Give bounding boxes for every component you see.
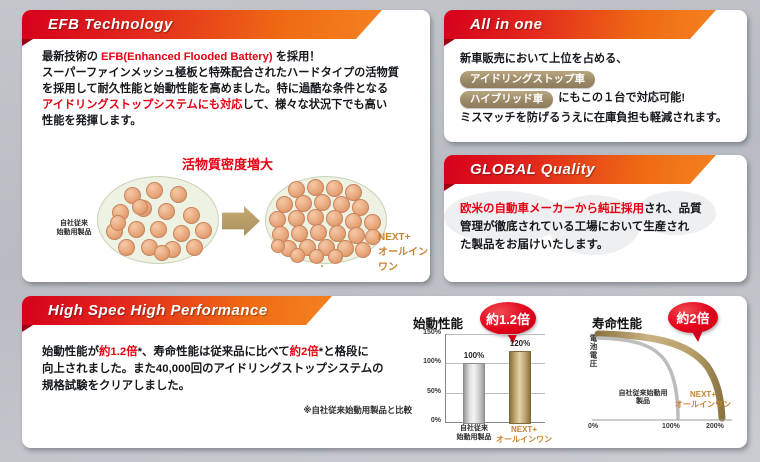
density-diagram: 活物質密度増大 自社従来 始動用製品 (22, 140, 430, 282)
banner-fold-high-spec (22, 325, 33, 332)
xtick-200: 200% (706, 423, 724, 430)
right-arrow-icon (222, 206, 260, 236)
text-seg: 最新技術の (42, 51, 101, 63)
chart-starting-performance: 始動性能 約1.2倍 150% 100% 50% 0% 100% 120% 自社… (407, 304, 577, 446)
banner-global-quality: GLOBAL Quality (444, 155, 716, 184)
panel-high-spec: High Spec High Performance 始動性能が約1.2倍*、寿… (22, 296, 747, 448)
curve-label-conventional: 自社従来始動用製品 (616, 390, 670, 407)
high-spec-footnote: ※自社従来始動用製品と比較 (262, 404, 412, 416)
hs-line-3: 規格試験をクリアしました。 (42, 378, 412, 395)
efb-description: 最新技術の EFB(Enhanced Flooded Battery) を採用！… (42, 50, 420, 130)
aio-line-2-suffix: にもこの１台で対応可能! (558, 91, 685, 107)
text-seg-highlight: アイドリングストップシステムにも対応 (42, 99, 242, 111)
banner-title: EFB Technology (22, 16, 173, 33)
density-right-label-jp: オールインワン (378, 243, 430, 273)
xtick-0: 0% (588, 423, 598, 430)
curve-label-next-plus-en: NEXT+ (674, 390, 732, 400)
high-spec-description: 始動性能が約1.2倍*、寿命性能は従来品に比べて約2倍*と格段に 向上されました… (42, 344, 412, 395)
efb-line-5: 性能を発揮します。 (42, 114, 420, 130)
density-right-label-en: NEXT+ (378, 232, 430, 243)
panel-global-quality: GLOBAL Quality 欧米の自動車メーカーから純正採用され、品質 管理が… (444, 155, 747, 282)
curve-label-next-plus: NEXT+ オールインワン (674, 390, 732, 410)
text-seg: して、様々な状況下でも高い (242, 99, 387, 111)
density-diagram-heading: 活物質密度増大 (182, 154, 273, 173)
efb-line-4: アイドリングストップシステムにも対応して、様々な状況下でも高い (42, 98, 420, 114)
aio-tag-row-2: ハイブリッド車 にもこの１台で対応可能! (460, 91, 740, 108)
bar-conventional (463, 363, 485, 424)
plot-area-starting: 150% 100% 50% 0% 100% 120% 自社従来 始動用製品 NE… (407, 304, 577, 446)
efb-line-2: スーパーファインメッシュ極板と特殊配合されたハードタイプの活物質 (42, 66, 420, 82)
aio-line-3: ミスマッチを防げるうえに在庫負担も軽減されます。 (460, 111, 740, 127)
gridline-150 (445, 334, 545, 335)
gq-line-3: た製品をお届けいたします。 (460, 237, 742, 255)
text-seg-highlight: 欧米の自動車メーカーから純正採用 (460, 203, 644, 215)
curve-label-next-plus-jp: オールインワン (674, 400, 732, 410)
ytick-50: 50% (411, 388, 441, 395)
banner-title: All in one (444, 16, 543, 33)
tag-hybrid-vehicle: ハイブリッド車 (460, 91, 553, 108)
text-seg: され、品質 (644, 203, 702, 215)
y-axis-starting (445, 334, 446, 423)
aio-line-1: 新車販売において上位を占める、 (460, 52, 740, 68)
banner-fold-efb (22, 39, 33, 46)
text-seg: 始動性能が (42, 346, 99, 358)
banner-efb-technology: EFB Technology (22, 10, 382, 39)
particle-group-next-plus (265, 176, 387, 264)
chart-life-performance: 寿命性能 約2倍 電池電圧 0% 100% 200% 自社従来始動 (582, 304, 747, 446)
banner-high-spec: High Spec High Performance (22, 296, 332, 325)
ytick-100: 100% (411, 358, 441, 365)
gq-line-2: 管理が徹底されている工場において生産され (460, 219, 742, 237)
density-left-label: 自社従来 始動用製品 (46, 220, 102, 237)
ytick-0: 0% (411, 417, 441, 424)
xtick-100: 100% (662, 423, 680, 430)
bar-value-conventional: 100% (453, 351, 495, 360)
efb-line-1: 最新技術の EFB(Enhanced Flooded Battery) を採用！ (42, 50, 420, 66)
text-seg: を採用！ (273, 51, 321, 63)
banner-title: GLOBAL Quality (444, 161, 595, 178)
gq-line-1: 欧米の自動車メーカーから純正採用され、品質 (460, 201, 742, 219)
banner-fold-all-in-one (444, 39, 455, 46)
bar-next-plus (509, 351, 531, 424)
banner-all-in-one: All in one (444, 10, 716, 39)
ytick-150: 150% (411, 329, 441, 336)
text-seg-highlight: 約1.2倍 (99, 346, 138, 358)
hs-line-2: 向上されました。また40,000回のアイドリングストップシステムの (42, 361, 412, 378)
panel-all-in-one: All in one 新車販売において上位を占める、 アイドリングストップ車 ハ… (444, 10, 747, 142)
banner-title: High Spec High Performance (22, 302, 268, 319)
bar-label-conventional: 自社従来 始動用製品 (447, 425, 501, 442)
hs-line-1: 始動性能が約1.2倍*、寿命性能は従来品に比べて約2倍*と格段に (42, 344, 412, 361)
text-seg: *、寿命性能は従来品に比べて (138, 346, 290, 358)
text-seg: *と格段に (319, 346, 369, 358)
tag-idling-stop-vehicle: アイドリングストップ車 (460, 71, 595, 88)
bar-label-next-plus: NEXT+ オールインワン (495, 425, 553, 445)
text-seg-highlight: EFB(Enhanced Flooded Battery) (101, 51, 273, 63)
all-in-one-description: 新車販売において上位を占める、 アイドリングストップ車 ハイブリッド車 にもこの… (460, 52, 740, 127)
bar-value-next-plus: 120% (499, 339, 541, 348)
panel-efb-technology: EFB Technology 最新技術の EFB(Enhanced Floode… (22, 10, 430, 282)
global-quality-description: 欧米の自動車メーカーから純正採用され、品質 管理が徹底されている工場において生産… (460, 201, 742, 254)
efb-line-3: を採用して耐久性能と始動性能を高めました。特に過酷な条件となる (42, 82, 420, 98)
aio-tag-row-1: アイドリングストップ車 (460, 71, 740, 88)
particle-group-conventional (97, 176, 219, 264)
density-right-label: NEXT+ オールインワン (378, 232, 430, 273)
text-seg-highlight: 約2倍 (290, 346, 319, 358)
